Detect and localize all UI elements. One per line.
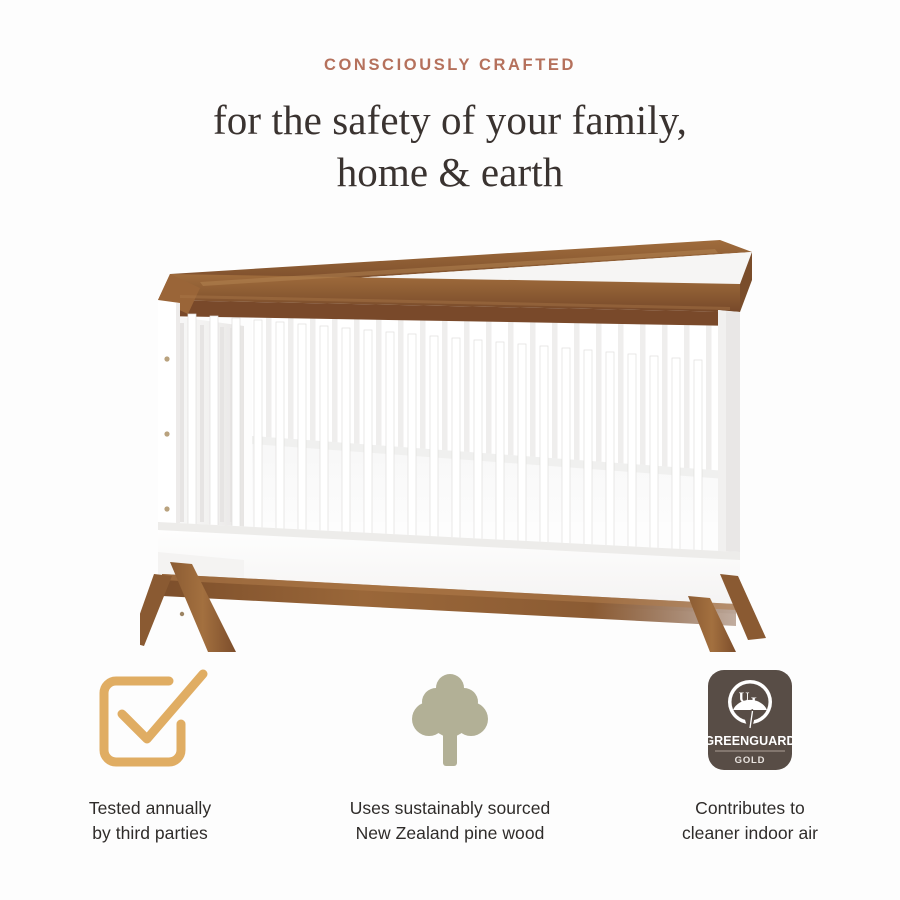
badge-level-text: GOLD (735, 755, 766, 766)
feature-list: Tested annually by third parties (0, 662, 900, 846)
eyebrow-text: CONSCIOUSLY CRAFTED (0, 56, 900, 75)
page-title: for the safety of your family, home & ea… (0, 94, 900, 199)
feature-item-sustainable-wood: Uses sustainably sourced New Zealand pin… (300, 662, 600, 846)
tree-icon (391, 666, 509, 776)
checkbox-check-icon (91, 666, 209, 776)
feature-item-greenguard-gold: U L GREENGUARD GOLD Contributes to clean… (600, 662, 900, 846)
product-feature-page: CONSCIOUSLY CRAFTED for the safety of yo… (0, 0, 900, 900)
crib-walnut-top-rail (158, 240, 752, 326)
crib-right-end-panel (718, 310, 740, 574)
caption-line-2: cleaner indoor air (682, 821, 818, 846)
feature-caption-sustainable-wood: Uses sustainably sourced New Zealand pin… (350, 796, 551, 846)
caption-line-1: Contributes to (695, 798, 805, 818)
headline-line-2: home & earth (0, 146, 900, 198)
feature-item-tested-annually: Tested annually by third parties (0, 662, 300, 846)
caption-line-2: New Zealand pine wood (350, 821, 551, 846)
caption-line-1: Tested annually (89, 798, 211, 818)
checkbox-check-icon-wrapper (91, 662, 209, 780)
greenguard-gold-badge-icon: U L GREENGUARD GOLD (691, 666, 809, 776)
crib-left-end-panel (158, 300, 244, 560)
mattress-height-screw (164, 506, 169, 511)
badge-title-text: GREENGUARD (704, 734, 795, 748)
crib-product-image (140, 222, 780, 652)
caption-line-1: Uses sustainably sourced (350, 798, 551, 818)
greenguard-gold-badge-icon-wrapper: U L GREENGUARD GOLD (691, 662, 809, 780)
mattress-height-screw (164, 431, 169, 436)
headline-line-1: for the safety of your family, (213, 97, 687, 143)
feature-caption-greenguard-gold: Contributes to cleaner indoor air (682, 796, 818, 846)
crib-leg-back-left (140, 574, 172, 646)
tree-icon-wrapper (391, 662, 509, 780)
crib-illustration (140, 222, 780, 652)
caption-line-2: by third parties (89, 821, 211, 846)
feature-caption-tested-annually: Tested annually by third parties (89, 796, 211, 846)
mattress-height-screw (164, 356, 169, 361)
